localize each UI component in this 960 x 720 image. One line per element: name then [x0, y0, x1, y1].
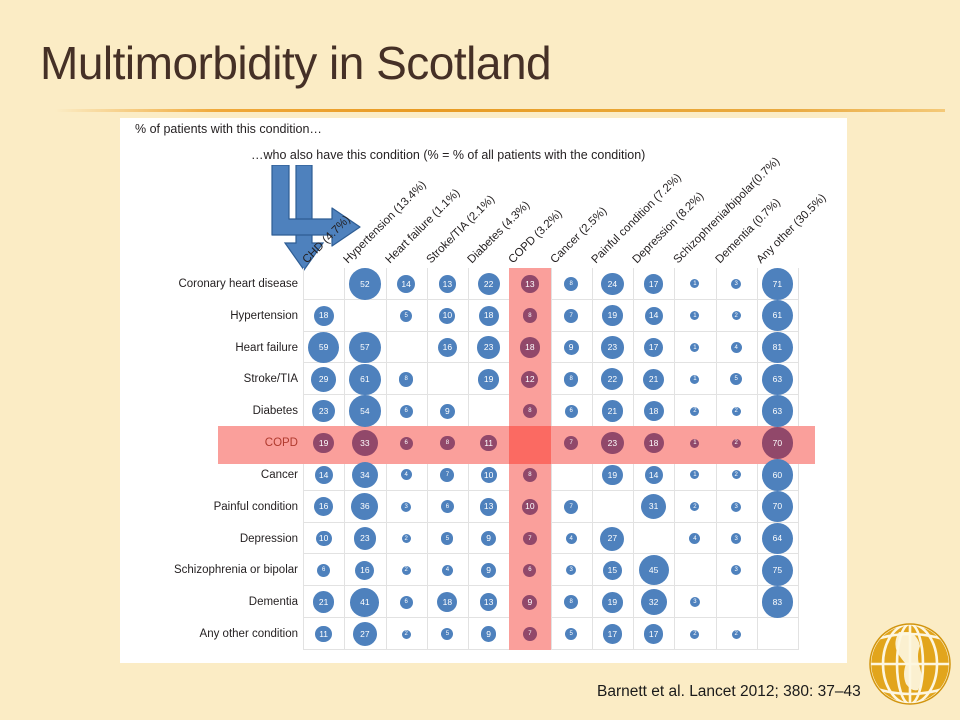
matrix-cell[interactable]: 1 — [674, 300, 715, 332]
matrix-bubble: 19 — [602, 592, 623, 613]
matrix-cell[interactable]: 2 — [674, 491, 715, 523]
matrix-cell[interactable]: 7 — [551, 300, 592, 332]
matrix-cell[interactable]: 2 — [716, 618, 757, 650]
matrix-cell[interactable]: 1 — [674, 332, 715, 364]
matrix-cell[interactable]: 2 — [674, 395, 715, 427]
matrix-cell[interactable] — [674, 554, 715, 586]
matrix-cell[interactable]: 57 — [344, 332, 385, 364]
matrix-bubble: 22 — [478, 273, 500, 295]
matrix-cell[interactable]: 70 — [757, 491, 798, 523]
matrix-bubble: 14 — [645, 466, 663, 484]
matrix-bubble: 8 — [523, 468, 538, 483]
matrix-bubble: 18 — [644, 401, 664, 421]
matrix-bubble: 19 — [478, 369, 499, 390]
matrix-cell[interactable]: 2 — [674, 618, 715, 650]
matrix-bubble: 17 — [603, 624, 623, 644]
matrix-cell[interactable]: 15 — [592, 554, 633, 586]
matrix-cell[interactable]: 83 — [757, 586, 798, 618]
matrix-cell[interactable]: 17 — [633, 332, 674, 364]
matrix-cell[interactable]: 19 — [592, 586, 633, 618]
matrix-cell[interactable]: 61 — [344, 363, 385, 395]
matrix-cell[interactable]: 6 — [303, 554, 344, 586]
matrix-bubble: 6 — [441, 500, 454, 513]
matrix-bubble: 7 — [564, 309, 578, 323]
matrix-bubble: 7 — [440, 468, 454, 482]
matrix-cell[interactable]: 9 — [551, 332, 592, 364]
matrix-cell[interactable]: 61 — [757, 300, 798, 332]
matrix-bubble: 61 — [762, 300, 794, 332]
matrix-bubble: 2 — [732, 630, 741, 639]
matrix-cell[interactable]: 54 — [344, 395, 385, 427]
matrix-bubble: 1 — [690, 470, 699, 479]
row-label: Dementia — [150, 586, 298, 618]
matrix-cell[interactable]: 17 — [592, 618, 633, 650]
matrix-cell[interactable]: 18 — [303, 300, 344, 332]
matrix-cell[interactable]: 18 — [633, 395, 674, 427]
matrix-bubble: 24 — [601, 273, 624, 296]
matrix-cell[interactable]: 3 — [716, 268, 757, 300]
row-label: COPD — [150, 427, 298, 459]
matrix-bubble: 18 — [520, 337, 540, 357]
matrix-cell[interactable]: 21 — [303, 586, 344, 618]
matrix-cell[interactable]: 24 — [592, 268, 633, 300]
matrix-bubble: 45 — [639, 555, 669, 585]
matrix-cell[interactable]: 23 — [303, 395, 344, 427]
row-label-group: Coronary heart diseaseHypertensionHeart … — [150, 268, 298, 650]
matrix-cell[interactable]: 5 — [716, 363, 757, 395]
matrix-bubble: 3 — [731, 533, 741, 543]
matrix-cell[interactable]: 14 — [633, 300, 674, 332]
matrix-cell[interactable]: 8 — [551, 586, 592, 618]
matrix-cell[interactable]: 5 — [386, 300, 427, 332]
matrix-bubble: 5 — [441, 628, 453, 640]
matrix-bubble: 2 — [690, 630, 699, 639]
matrix-cell[interactable]: 19 — [468, 363, 509, 395]
matrix-cell[interactable]: 6 — [386, 586, 427, 618]
matrix-bubble: 23 — [601, 432, 623, 454]
matrix-bubble: 57 — [349, 332, 381, 364]
matrix-bubble: 7 — [564, 436, 578, 450]
row-label: Hypertension — [150, 300, 298, 332]
matrix-cell[interactable]: 2 — [716, 395, 757, 427]
matrix-bubble: 18 — [644, 433, 664, 453]
matrix-bubble: 2 — [402, 566, 411, 575]
matrix-cell[interactable]: 36 — [344, 491, 385, 523]
title-divider — [55, 109, 945, 112]
matrix-bubble: 60 — [762, 459, 794, 491]
matrix-bubble: 9 — [481, 626, 496, 641]
matrix-bubble: 17 — [644, 274, 664, 294]
matrix-cell[interactable] — [386, 332, 427, 364]
matrix-bubble: 59 — [308, 332, 340, 364]
matrix-bubble: 2 — [402, 534, 411, 543]
matrix-bubble: 21 — [602, 400, 624, 422]
matrix-bubble: 6 — [565, 405, 578, 418]
row-label: Coronary heart disease — [150, 268, 298, 300]
matrix-bubble: 29 — [311, 367, 336, 392]
matrix-bubble: 31 — [641, 494, 666, 519]
matrix-cell[interactable]: 23 — [592, 332, 633, 364]
matrix-bubble: 13 — [480, 593, 498, 611]
matrix-bubble: 1 — [690, 375, 699, 384]
matrix-cell[interactable] — [427, 363, 468, 395]
matrix-cell[interactable]: 6 — [386, 395, 427, 427]
matrix-cell[interactable]: 52 — [344, 268, 385, 300]
matrix-bubble: 3 — [731, 279, 741, 289]
matrix-bubble: 17 — [644, 624, 664, 644]
citation: Barnett et al. Lancet 2012; 380: 37–43 — [597, 683, 861, 701]
matrix-bubble: 6 — [317, 564, 330, 577]
matrix-cell[interactable]: 5 — [427, 523, 468, 555]
matrix-cell[interactable]: 13 — [468, 586, 509, 618]
figure-caption-columns: …who also have this condition (% = % of … — [251, 148, 645, 162]
matrix-bubble: 19 — [602, 465, 623, 486]
matrix-bubble: 5 — [400, 310, 412, 322]
matrix-cell[interactable]: 17 — [633, 268, 674, 300]
matrix-cell[interactable]: 1 — [674, 268, 715, 300]
matrix-bubble: 23 — [354, 527, 376, 549]
matrix-cell[interactable]: 18 — [427, 586, 468, 618]
matrix-bubble: 1 — [690, 439, 699, 448]
matrix-cell[interactable]: 64 — [757, 523, 798, 555]
matrix-cell[interactable]: 5 — [551, 618, 592, 650]
matrix-bubble: 83 — [762, 586, 794, 618]
matrix-bubble: 18 — [479, 306, 499, 326]
matrix-cell[interactable]: 5 — [427, 618, 468, 650]
copd-crosshair-highlight — [509, 426, 551, 464]
matrix-bubble: 70 — [762, 491, 794, 523]
matrix-cell[interactable]: 3 — [551, 554, 592, 586]
matrix-bubble: 23 — [477, 336, 499, 358]
matrix-bubble: 21 — [313, 591, 335, 613]
matrix-bubble: 17 — [644, 338, 664, 358]
matrix-bubble: 1 — [690, 311, 699, 320]
matrix-bubble: 2 — [732, 311, 741, 320]
globe-logo — [866, 620, 954, 708]
matrix-bubble: 19 — [313, 433, 334, 454]
matrix-cell[interactable]: 8 — [551, 363, 592, 395]
matrix-cell[interactable] — [633, 523, 674, 555]
matrix-bubble: 61 — [349, 364, 381, 396]
matrix-bubble: 23 — [312, 400, 334, 422]
row-label: Depression — [150, 523, 298, 555]
matrix-cell[interactable]: 3 — [716, 491, 757, 523]
matrix-bubble: 9 — [564, 340, 579, 355]
matrix-cell[interactable]: 3 — [386, 491, 427, 523]
matrix-bubble: 6 — [400, 596, 413, 609]
matrix-bubble: 10 — [439, 308, 455, 324]
matrix-cell[interactable]: 10 — [427, 300, 468, 332]
matrix-bubble: 10 — [481, 467, 497, 483]
matrix-bubble: 4 — [731, 342, 742, 353]
matrix-cell[interactable]: 6 — [427, 491, 468, 523]
matrix-bubble: 16 — [355, 561, 374, 580]
row-label: Schizophrenia or bipolar — [150, 554, 298, 586]
matrix-cell[interactable]: 6 — [551, 395, 592, 427]
matrix-cell[interactable]: 3 — [716, 523, 757, 555]
matrix-cell[interactable]: 3 — [674, 586, 715, 618]
matrix-cell[interactable]: 22 — [468, 268, 509, 300]
matrix-cell[interactable] — [592, 491, 633, 523]
matrix-cell[interactable]: 27 — [344, 618, 385, 650]
row-label: Painful condition — [150, 491, 298, 523]
matrix-bubble: 7 — [564, 500, 578, 514]
matrix-cell[interactable]: 4 — [674, 523, 715, 555]
matrix-bubble: 7 — [523, 627, 537, 641]
matrix-cell[interactable]: 75 — [757, 554, 798, 586]
matrix-cell[interactable]: 63 — [757, 363, 798, 395]
row-label: Heart failure — [150, 332, 298, 364]
matrix-bubble: 36 — [351, 493, 378, 520]
matrix-bubble: 4 — [442, 565, 453, 576]
matrix-cell[interactable] — [303, 268, 344, 300]
matrix-bubble: 4 — [401, 469, 412, 480]
matrix-cell[interactable] — [344, 300, 385, 332]
matrix-bubble: 64 — [762, 523, 794, 555]
matrix-cell[interactable]: 3 — [716, 554, 757, 586]
matrix-bubble: 32 — [641, 589, 667, 615]
matrix-bubble: 11 — [315, 626, 331, 642]
matrix-bubble: 10 — [522, 499, 538, 515]
matrix-bubble: 9 — [481, 563, 496, 578]
matrix-bubble: 8 — [399, 372, 414, 387]
matrix-cell[interactable]: 23 — [468, 332, 509, 364]
matrix-cell[interactable] — [468, 395, 509, 427]
row-label: Any other condition — [150, 618, 298, 650]
matrix-bubble: 6 — [400, 405, 413, 418]
matrix-bubble: 34 — [352, 462, 379, 489]
matrix-bubble: 4 — [689, 533, 700, 544]
matrix-cell[interactable] — [757, 618, 798, 650]
matrix-bubble: 13 — [480, 498, 498, 516]
matrix-bubble: 33 — [352, 430, 378, 456]
matrix-cell[interactable]: 17 — [633, 618, 674, 650]
matrix-cell[interactable]: 8 — [551, 268, 592, 300]
matrix-cell[interactable]: 2 — [716, 300, 757, 332]
matrix-bubble: 21 — [643, 369, 665, 391]
matrix-bubble: 18 — [437, 592, 457, 612]
matrix-cell[interactable]: 13 — [468, 491, 509, 523]
matrix-cell[interactable]: 16 — [344, 554, 385, 586]
matrix-bubble: 8 — [564, 277, 579, 292]
page-title: Multimorbidity in Scotland — [40, 36, 551, 90]
matrix-bubble: 2 — [732, 470, 741, 479]
matrix-bubble: 27 — [353, 622, 377, 646]
matrix-cell[interactable]: 27 — [592, 523, 633, 555]
matrix-bubble: 18 — [314, 306, 334, 326]
matrix-bubble: 22 — [601, 368, 623, 390]
matrix-bubble: 3 — [566, 565, 576, 575]
matrix-bubble: 2 — [732, 407, 741, 416]
matrix-cell[interactable]: 13 — [427, 268, 468, 300]
matrix-cell[interactable]: 7 — [551, 491, 592, 523]
matrix-bubble: 27 — [600, 527, 624, 551]
matrix-bubble: 19 — [602, 305, 623, 326]
matrix-bubble: 15 — [603, 561, 622, 580]
matrix-cell[interactable]: 9 — [468, 618, 509, 650]
matrix-bubble: 7 — [523, 532, 537, 546]
matrix-bubble: 13 — [439, 275, 457, 293]
matrix-cell[interactable]: 1 — [674, 363, 715, 395]
matrix-bubble: 5 — [565, 628, 577, 640]
matrix-bubble: 81 — [762, 332, 794, 364]
matrix-bubble: 1 — [690, 343, 699, 352]
matrix-cell[interactable]: 2 — [386, 618, 427, 650]
matrix-cell[interactable]: 32 — [633, 586, 674, 618]
matrix-bubble: 41 — [350, 588, 379, 617]
matrix-cell[interactable]: 8 — [386, 363, 427, 395]
matrix-bubble: 2 — [690, 502, 699, 511]
matrix-cell[interactable]: 45 — [633, 554, 674, 586]
matrix-cell[interactable]: 81 — [757, 332, 798, 364]
matrix-cell[interactable]: 31 — [633, 491, 674, 523]
matrix-bubble: 2 — [402, 630, 411, 639]
matrix-cell[interactable]: 2 — [386, 554, 427, 586]
matrix-bubble: 54 — [349, 395, 381, 427]
matrix-bubble: 8 — [564, 595, 579, 610]
matrix-bubble: 75 — [762, 555, 794, 587]
matrix-cell[interactable]: 2 — [386, 523, 427, 555]
matrix-bubble: 2 — [732, 439, 741, 448]
matrix-bubble: 63 — [762, 395, 794, 427]
matrix-cell[interactable]: 16 — [303, 491, 344, 523]
matrix-bubble: 14 — [397, 275, 415, 293]
matrix-cell[interactable]: 19 — [592, 300, 633, 332]
matrix-cell[interactable]: 10 — [303, 523, 344, 555]
matrix-cell[interactable]: 22 — [592, 363, 633, 395]
matrix-bubble: 1 — [690, 279, 699, 288]
row-label: Stroke/TIA — [150, 363, 298, 395]
matrix-cell[interactable]: 9 — [468, 554, 509, 586]
matrix-bubble: 3 — [731, 502, 741, 512]
matrix-cell[interactable]: 14 — [386, 268, 427, 300]
matrix-cell[interactable]: 21 — [633, 363, 674, 395]
matrix-cell[interactable]: 9 — [427, 395, 468, 427]
matrix-cell[interactable]: 21 — [592, 395, 633, 427]
matrix-bubble: 23 — [601, 336, 623, 358]
matrix-bubble: 5 — [441, 532, 453, 544]
matrix-cell[interactable]: 4 — [716, 332, 757, 364]
matrix-bubble: 13 — [521, 275, 539, 293]
matrix-cell[interactable]: 4 — [551, 523, 592, 555]
matrix-cell[interactable]: 23 — [344, 523, 385, 555]
matrix-cell[interactable]: 41 — [344, 586, 385, 618]
matrix-cell[interactable]: 59 — [303, 332, 344, 364]
matrix-cell[interactable]: 9 — [468, 523, 509, 555]
matrix-cell[interactable]: 63 — [757, 395, 798, 427]
matrix-bubble: 70 — [762, 427, 794, 459]
matrix-bubble: 16 — [314, 497, 333, 516]
matrix-bubble: 52 — [349, 268, 381, 300]
matrix-cell[interactable]: 16 — [427, 332, 468, 364]
row-label: Diabetes — [150, 395, 298, 427]
matrix-bubble: 2 — [690, 407, 699, 416]
matrix-bubble: 8 — [440, 436, 455, 451]
matrix-bubble: 6 — [400, 437, 413, 450]
matrix-bubble: 8 — [564, 372, 579, 387]
matrix-bubble: 3 — [731, 565, 741, 575]
matrix-cell[interactable]: 71 — [757, 268, 798, 300]
matrix-bubble: 63 — [762, 364, 794, 396]
matrix-bubble: 3 — [401, 502, 411, 512]
matrix-bubble: 4 — [566, 533, 577, 544]
matrix-cell[interactable] — [716, 586, 757, 618]
matrix-bubble: 16 — [438, 338, 457, 357]
matrix-bubble: 11 — [480, 435, 496, 451]
matrix-bubble: 14 — [315, 466, 333, 484]
matrix-bubble: 8 — [523, 308, 538, 323]
row-label: Cancer — [150, 459, 298, 491]
matrix-bubble: 5 — [730, 373, 742, 385]
matrix-bubble: 14 — [645, 307, 663, 325]
figure-caption-rows: % of patients with this condition… — [135, 122, 322, 136]
matrix-cell[interactable]: 29 — [303, 363, 344, 395]
matrix-bubble: 71 — [762, 268, 794, 300]
matrix-bubble: 10 — [316, 531, 332, 547]
matrix-bubble: 3 — [690, 597, 700, 607]
matrix-cell[interactable]: 4 — [427, 554, 468, 586]
matrix-bubble: 9 — [440, 404, 455, 419]
matrix-cell[interactable]: 11 — [303, 618, 344, 650]
matrix-bubble: 9 — [481, 531, 496, 546]
matrix-cell[interactable]: 18 — [468, 300, 509, 332]
